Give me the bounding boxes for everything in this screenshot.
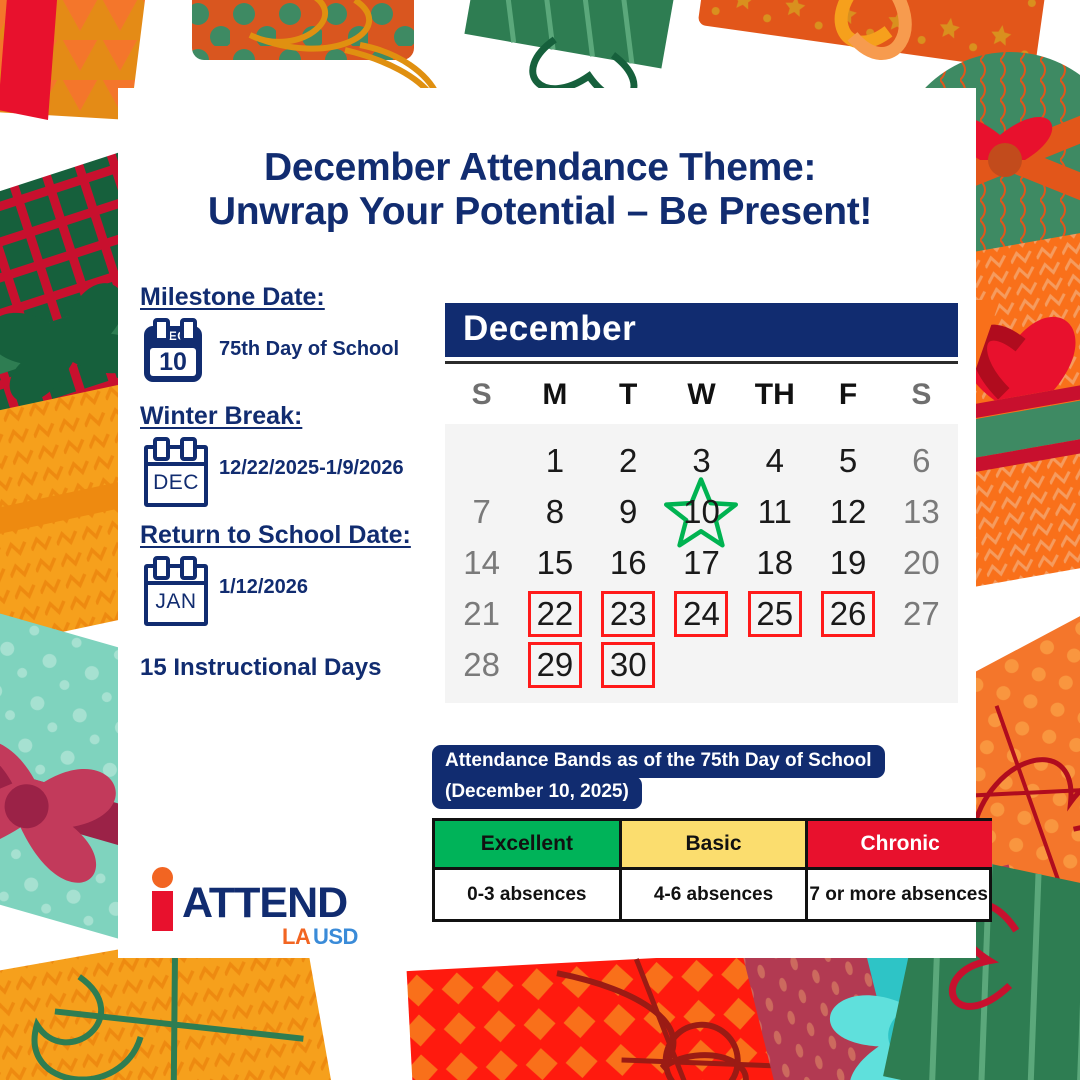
calendar-day-16[interactable]: 16 [592, 538, 665, 587]
infographic-canvas: December Attendance Theme: Unwrap Your P… [0, 0, 1080, 1080]
weekday-m-1: M [518, 378, 591, 412]
weekday-f-5: F [811, 378, 884, 412]
band-header-basic: Basic [619, 818, 806, 870]
calendar-jan-icon: JAN [140, 556, 206, 620]
calendar-day-24[interactable]: 24 [665, 589, 738, 638]
calendar-weekday-header: SMTWTHFS [445, 378, 958, 412]
attendance-bands-banner: Attendance Bands as of the 75th Day of S… [432, 745, 992, 809]
day-number: 10 [683, 493, 720, 531]
band-value-chronic: 7 or more absences [805, 870, 992, 922]
winter-break-day-box: 24 [674, 591, 728, 637]
calendar-day-28[interactable]: 28 [445, 640, 518, 689]
winter-break-day-box: 30 [601, 642, 655, 688]
band-header-chronic: Chronic [805, 818, 992, 870]
return-icon-month: JAN [148, 590, 204, 614]
milestone-heading: Milestone Date: [140, 283, 450, 312]
calendar-day-2[interactable]: 2 [592, 436, 665, 485]
winter-break-day-box: 25 [748, 591, 802, 637]
calendar-day-11[interactable]: 11 [738, 487, 811, 536]
winter-break-day-box: 26 [821, 591, 875, 637]
return-heading: Return to School Date: [140, 521, 450, 550]
iattend-lausd-logo: ATTEND LA USD [146, 866, 376, 930]
attendance-bands-table: ExcellentBasicChronic0-3 absences4-6 abs… [432, 818, 992, 922]
instructional-days: 15 Instructional Days [140, 654, 450, 683]
title-line-2: Unwrap Your Potential – Be Present! [0, 190, 1080, 234]
calendar-day-10[interactable]: 10 [665, 487, 738, 536]
calendar-day-9[interactable]: 9 [592, 487, 665, 536]
logo-usd-text: USD [313, 924, 358, 950]
calendar-day-22[interactable]: 22 [518, 589, 591, 638]
calendar-day-4[interactable]: 4 [738, 436, 811, 485]
left-info-column: Milestone Date: DEC 10 75th Day of Schoo… [140, 283, 450, 683]
calendar-day-26[interactable]: 26 [811, 589, 884, 638]
calendar-day-30[interactable]: 30 [592, 640, 665, 689]
page-title: December Attendance Theme: Unwrap Your P… [0, 146, 1080, 233]
weekday-t-2: T [592, 378, 665, 412]
calendar-dec-10-icon: DEC 10 [140, 318, 206, 382]
calendar-day-17[interactable]: 17 [665, 538, 738, 587]
calendar-day-13[interactable]: 13 [885, 487, 958, 536]
milestone-text: 75th Day of School [219, 338, 399, 362]
winter-break-row: DEC 12/22/2025-1/9/2026 [140, 437, 450, 501]
winter-break-day-box: 23 [601, 591, 655, 637]
weekday-th-4: TH [738, 378, 811, 412]
weekday-s-6: S [885, 378, 958, 412]
logo-la-text: LA [282, 924, 310, 950]
weekday-w-3: W [665, 378, 738, 412]
banner-line-2: (December 10, 2025) [432, 776, 642, 809]
band-value-excellent: 0-3 absences [432, 870, 619, 922]
return-row: JAN 1/12/2026 [140, 556, 450, 620]
calendar-rule [445, 361, 958, 364]
calendar-day-6[interactable]: 6 [885, 436, 958, 485]
winter-break-text: 12/22/2025-1/9/2026 [219, 457, 404, 481]
return-text: 1/12/2026 [219, 576, 308, 600]
calendar-day-7[interactable]: 7 [445, 487, 518, 536]
calendar-day-21[interactable]: 21 [445, 589, 518, 638]
calendar-day-1[interactable]: 1 [518, 436, 591, 485]
calendar-day-8[interactable]: 8 [518, 487, 591, 536]
milestone-icon-day: 10 [150, 348, 196, 376]
calendar-month-title: December [445, 303, 958, 357]
logo-attend-text: ATTEND [182, 882, 347, 925]
calendar-day-23[interactable]: 23 [592, 589, 665, 638]
calendar-day-20[interactable]: 20 [885, 538, 958, 587]
calendar-day-18[interactable]: 18 [738, 538, 811, 587]
calendar-day-19[interactable]: 19 [811, 538, 884, 587]
calendar-day-27[interactable]: 27 [885, 589, 958, 638]
band-value-basic: 4-6 absences [619, 870, 806, 922]
logo-i-stem-icon [152, 891, 173, 931]
milestone-row: DEC 10 75th Day of School [140, 318, 450, 382]
december-calendar: December SMTWTHFS 1234567891011121314151… [445, 303, 958, 703]
band-header-excellent: Excellent [432, 818, 619, 870]
calendar-dec-icon: DEC [140, 437, 206, 501]
calendar-day-15[interactable]: 15 [518, 538, 591, 587]
winter-icon-month: DEC [148, 471, 204, 495]
title-line-1: December Attendance Theme: [0, 146, 1080, 190]
banner-line-1: Attendance Bands as of the 75th Day of S… [432, 745, 885, 778]
calendar-day-14[interactable]: 14 [445, 538, 518, 587]
weekday-s-0: S [445, 378, 518, 412]
calendar-day-29[interactable]: 29 [518, 640, 591, 689]
calendar-day-5[interactable]: 5 [811, 436, 884, 485]
calendar-day-12[interactable]: 12 [811, 487, 884, 536]
winter-break-heading: Winter Break: [140, 402, 450, 431]
logo-i-dot-icon [152, 867, 173, 888]
calendar-day-25[interactable]: 25 [738, 589, 811, 638]
winter-break-day-box: 29 [528, 642, 582, 688]
winter-break-day-box: 22 [528, 591, 582, 637]
calendar-day-grid: 1234567891011121314151617181920212223242… [445, 424, 958, 703]
